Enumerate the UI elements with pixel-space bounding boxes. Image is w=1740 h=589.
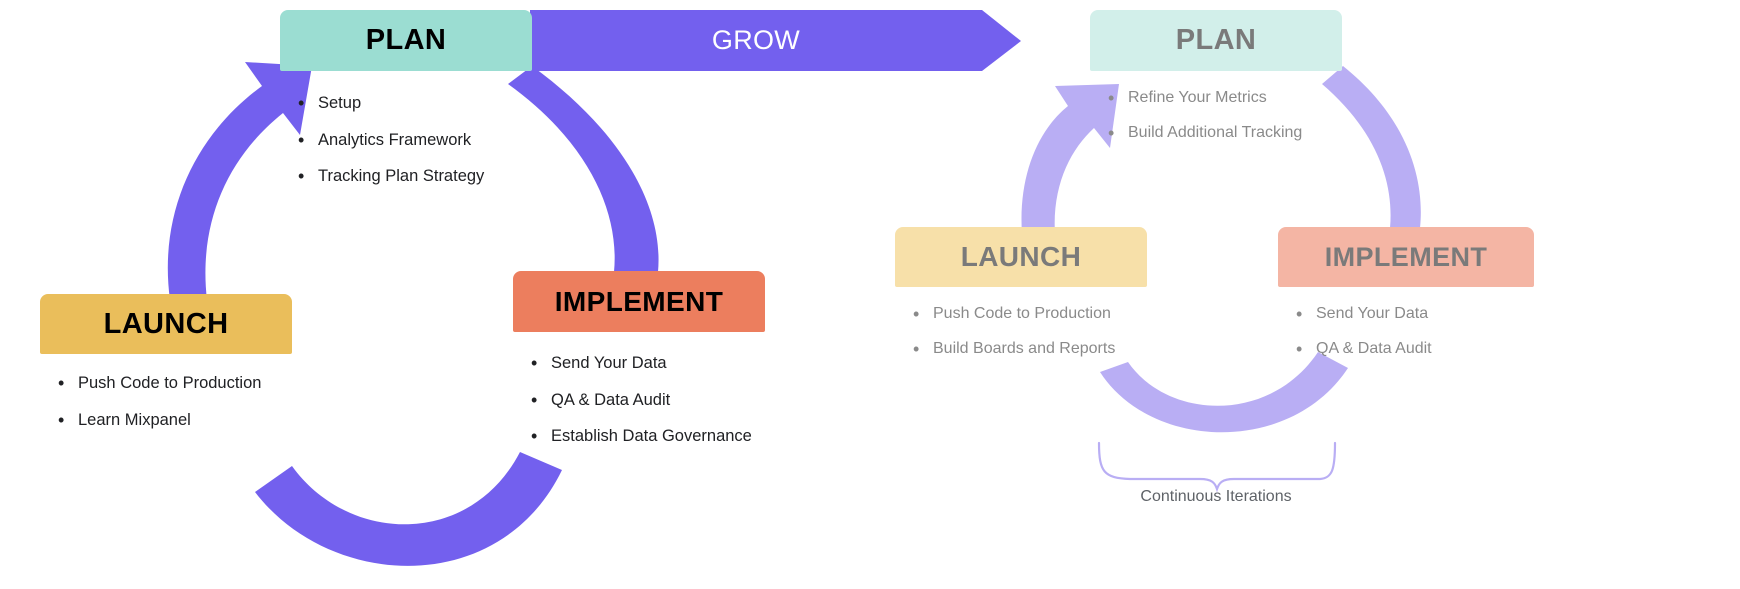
bullet-icon: •: [298, 94, 304, 112]
list-item-label: Push Code to Production: [933, 305, 1111, 322]
bullet-icon: •: [531, 391, 537, 409]
list-item-label: Analytics Framework: [318, 131, 471, 149]
list-item-label: Build Additional Tracking: [1128, 124, 1302, 141]
list-item-label: QA & Data Audit: [551, 391, 670, 409]
phase-implement-faded-title: IMPLEMENT: [1278, 227, 1534, 287]
phase-plan-active[interactable]: PLAN •Setup •Analytics Framework •Tracki…: [280, 10, 532, 205]
list-item: •Refine Your Metrics: [1090, 90, 1342, 106]
phase-plan-active-title: PLAN: [280, 10, 532, 71]
list-item-label: Learn Mixpanel: [78, 411, 191, 429]
list-item: •QA & Data Audit: [513, 392, 765, 409]
diagram-canvas: GROW PLAN •Setup •Analytics Framework •T…: [0, 0, 1740, 589]
list-item: •Establish Data Governance: [513, 428, 765, 445]
phase-implement-active-items: •Send Your Data •QA & Data Audit •Establ…: [513, 355, 765, 445]
list-item: •Setup: [280, 95, 532, 112]
list-item: •Tracking Plan Strategy: [280, 168, 532, 185]
bullet-icon: •: [1296, 340, 1302, 358]
bullet-icon: •: [531, 427, 537, 445]
bullet-icon: •: [1108, 89, 1114, 107]
list-item: •Send Your Data: [1278, 306, 1534, 322]
continuous-iterations-brace: [1099, 443, 1335, 489]
list-item-label: QA & Data Audit: [1316, 340, 1432, 357]
grow-banner: GROW: [530, 10, 1020, 71]
list-item: •Learn Mixpanel: [40, 412, 292, 429]
phase-plan-active-items: •Setup •Analytics Framework •Tracking Pl…: [280, 95, 532, 185]
list-item: •Build Additional Tracking: [1090, 125, 1342, 141]
phase-launch-active[interactable]: LAUNCH •Push Code to Production •Learn M…: [40, 294, 292, 448]
bullet-icon: •: [298, 131, 304, 149]
phase-launch-active-items: •Push Code to Production •Learn Mixpanel: [40, 375, 292, 428]
list-item: •Push Code to Production: [895, 306, 1147, 322]
list-item-label: Send Your Data: [1316, 305, 1428, 322]
bullet-icon: •: [1108, 124, 1114, 142]
list-item: •Send Your Data: [513, 355, 765, 372]
bullet-icon: •: [58, 374, 64, 392]
continuous-iterations-label: Continuous Iterations: [1060, 488, 1372, 506]
phase-launch-faded-title: LAUNCH: [895, 227, 1147, 287]
phase-plan-faded-items: •Refine Your Metrics •Build Additional T…: [1090, 90, 1342, 141]
phase-implement-faded[interactable]: IMPLEMENT •Send Your Data •QA & Data Aud…: [1278, 227, 1534, 376]
phase-implement-active-title: IMPLEMENT: [513, 271, 765, 332]
phase-plan-faded-title: PLAN: [1090, 10, 1342, 71]
list-item-label: Establish Data Governance: [551, 427, 752, 445]
phase-implement-faded-items: •Send Your Data •QA & Data Audit: [1278, 306, 1534, 357]
list-item-label: Build Boards and Reports: [933, 340, 1115, 357]
list-item-label: Send Your Data: [551, 354, 667, 372]
list-item: •Push Code to Production: [40, 375, 292, 392]
bullet-icon: •: [531, 354, 537, 372]
phase-launch-faded-items: •Push Code to Production •Build Boards a…: [895, 306, 1147, 357]
phase-implement-active[interactable]: IMPLEMENT •Send Your Data •QA & Data Aud…: [513, 271, 765, 465]
phase-plan-faded[interactable]: PLAN •Refine Your Metrics •Build Additio…: [1090, 10, 1342, 160]
phase-launch-active-title: LAUNCH: [40, 294, 292, 354]
grow-banner-label: GROW: [530, 10, 982, 71]
list-item-label: Refine Your Metrics: [1128, 89, 1267, 106]
list-item-label: Tracking Plan Strategy: [318, 167, 484, 185]
bullet-icon: •: [913, 305, 919, 323]
implement-to-launch-arrow: [255, 452, 562, 566]
list-item-label: Push Code to Production: [78, 374, 261, 392]
bullet-icon: •: [913, 340, 919, 358]
bullet-icon: •: [298, 167, 304, 185]
list-item: •QA & Data Audit: [1278, 341, 1534, 357]
bullet-icon: •: [58, 411, 64, 429]
bullet-icon: •: [1296, 305, 1302, 323]
list-item: •Analytics Framework: [280, 132, 532, 149]
phase-launch-faded[interactable]: LAUNCH •Push Code to Production •Build B…: [895, 227, 1147, 376]
list-item: •Build Boards and Reports: [895, 341, 1147, 357]
list-item-label: Setup: [318, 94, 361, 112]
